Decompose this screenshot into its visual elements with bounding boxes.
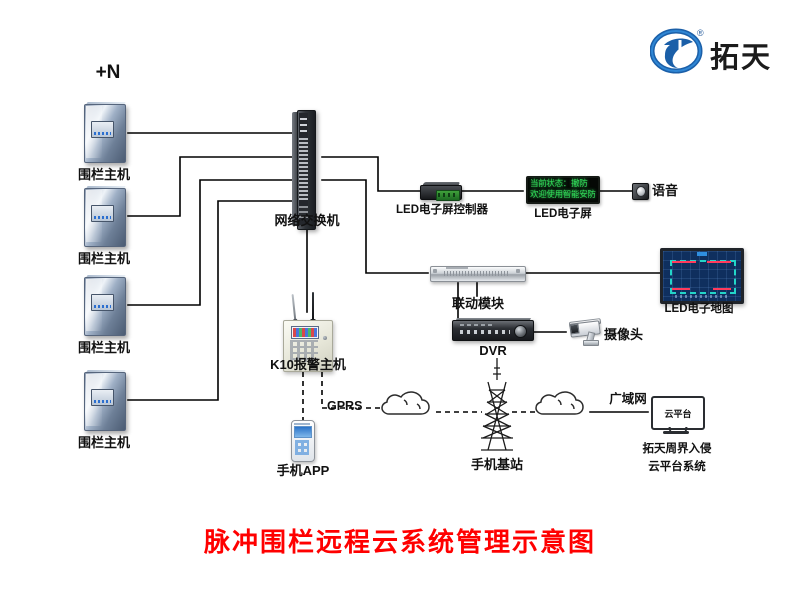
gprs-label: GPRS xyxy=(327,399,373,413)
linkage-module[interactable] xyxy=(430,264,526,282)
fence-host-4[interactable] xyxy=(80,370,128,432)
brand-logo: ® 拓天 xyxy=(650,28,780,76)
led-screen-icon: 当前状态：撤防 欢迎使用智能安防 xyxy=(526,176,600,204)
fence-host-1-label: 围栏主机 xyxy=(56,168,152,183)
wan-label: 广域网 xyxy=(600,392,656,406)
smartphone-icon xyxy=(291,420,315,462)
cloud-platform[interactable]: 云平台 xyxy=(651,396,703,438)
fence-host-1[interactable] xyxy=(80,102,128,164)
voice-output[interactable] xyxy=(632,183,649,200)
tuotian-swoosh-logo-icon xyxy=(650,28,704,74)
fence-host-2-label: 围栏主机 xyxy=(56,252,152,267)
led-controller[interactable] xyxy=(420,182,462,200)
k10-alarm-host-label: K10报警主机 xyxy=(257,358,359,373)
network-switch[interactable] xyxy=(292,110,318,228)
led-map[interactable] xyxy=(660,248,744,304)
dvr-label: DVR xyxy=(452,344,534,359)
phone-app[interactable] xyxy=(291,420,315,462)
camera[interactable] xyxy=(566,320,606,346)
fence-host-icon xyxy=(80,186,128,248)
base-station-label: 手机基站 xyxy=(447,458,547,473)
network-switch-label: 网络交换机 xyxy=(255,214,359,229)
diagram-title: 脉冲围栏远程云系统管理示意图 xyxy=(0,522,800,559)
voice-label: 语音 xyxy=(652,184,712,199)
network-switch-icon xyxy=(292,110,318,228)
fence-host-icon xyxy=(80,102,128,164)
fence-host-2[interactable] xyxy=(80,186,128,248)
linkage-module-label: 联动模块 xyxy=(427,297,529,312)
fence-host-icon xyxy=(80,275,128,337)
cloud-platform-label-1: 拓天周界入侵 xyxy=(621,443,733,456)
led-screen[interactable]: 当前状态：撤防 欢迎使用智能安防 xyxy=(526,176,600,204)
cloud-platform-screen-text: 云平台 xyxy=(664,407,691,420)
registered-mark: ® xyxy=(697,28,704,38)
camera-label: 摄像头 xyxy=(604,328,668,343)
cloud-icon xyxy=(382,392,429,414)
led-screen-label: LED电子屏 xyxy=(512,208,614,221)
diagram-canvas: ® 拓天 +N 围栏主机 围栏主机 围栏主机 围栏主机 xyxy=(0,0,800,600)
led-map-label: LED电子地图 xyxy=(645,303,753,316)
led-controller-icon xyxy=(420,182,462,200)
dvr-icon xyxy=(452,318,534,340)
speaker-icon xyxy=(632,183,649,200)
fence-host-icon xyxy=(80,370,128,432)
led-controller-label: LED电子屏控制器 xyxy=(388,204,496,217)
cloud-platform-label-2: 云平台系统 xyxy=(621,461,733,474)
plus-n-label: +N xyxy=(78,62,138,84)
fence-host-3[interactable] xyxy=(80,275,128,337)
cell-tower-icon xyxy=(481,358,513,450)
fence-host-4-label: 围栏主机 xyxy=(56,436,152,451)
monitor-icon: 云平台 xyxy=(651,396,703,438)
dvr[interactable] xyxy=(452,318,534,340)
phone-app-label: 手机APP xyxy=(258,464,348,479)
led-screen-line1: 当前状态：撤防 xyxy=(530,179,596,190)
fence-host-3-label: 围栏主机 xyxy=(56,341,152,356)
cloud-icon xyxy=(536,392,583,414)
led-screen-line2: 欢迎使用智能安防 xyxy=(530,190,596,201)
led-map-icon xyxy=(660,248,744,304)
brand-name: 拓天 xyxy=(710,34,772,76)
linkage-module-icon xyxy=(430,264,526,282)
camera-icon xyxy=(566,320,606,346)
